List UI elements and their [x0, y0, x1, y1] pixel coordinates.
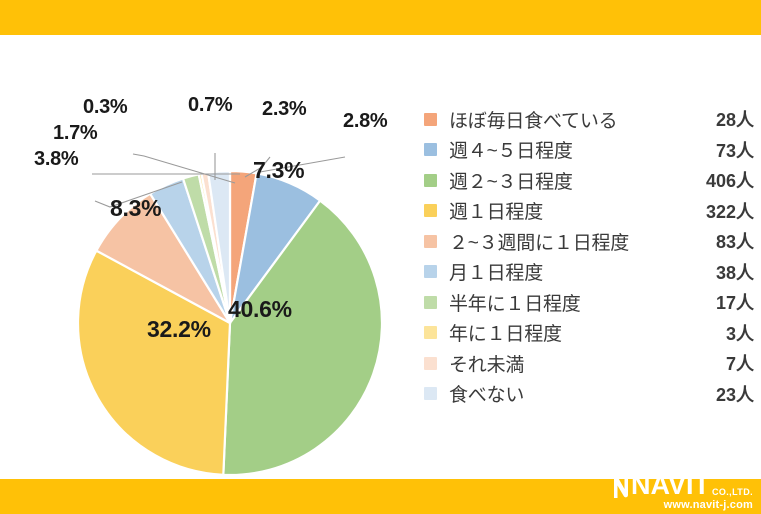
legend-label: 年に１日程度	[449, 319, 726, 346]
pie-label-40.6: 40.6%	[228, 296, 292, 323]
legend-swatch-icon	[424, 296, 437, 309]
chart-legend: ほぼ毎日食べている 28人 週４~５日程度 73人 週２~３日程度 406人 週…	[424, 104, 754, 409]
legend-swatch-icon	[424, 235, 437, 248]
legend-label: 食べない	[449, 380, 716, 407]
chart-canvas: 1.7% 0.3% 3.8% 0.7% 2.3% 2.8% 7.3% 40.6%…	[0, 35, 761, 479]
pie-label-2.3: 2.3%	[262, 98, 306, 121]
pie-chart: 1.7% 0.3% 3.8% 0.7% 2.3% 2.8% 7.3% 40.6%…	[0, 35, 430, 479]
legend-item[interactable]: 週１日程度 322人	[424, 196, 754, 227]
legend-swatch-icon	[424, 204, 437, 217]
pie-label-2.8: 2.8%	[343, 110, 387, 133]
legend-value: 406人	[706, 167, 754, 193]
navit-logo[interactable]: NAVIT CO.,LTD. www.navit-j.com	[612, 479, 753, 511]
pie-label-7.3: 7.3%	[253, 157, 304, 184]
pie-label-0.7: 0.7%	[188, 94, 232, 117]
legend-value: 28人	[716, 106, 754, 132]
legend-item[interactable]: ほぼ毎日食べている 28人	[424, 104, 754, 135]
legend-item[interactable]: ２~３週間に１日程度 83人	[424, 226, 754, 257]
legend-value: 73人	[716, 137, 754, 163]
legend-item[interactable]: 月１日程度 38人	[424, 257, 754, 288]
pie-label-1.7: 1.7%	[53, 122, 97, 145]
legend-swatch-icon	[424, 326, 437, 339]
legend-label: 月１日程度	[449, 258, 716, 285]
legend-item[interactable]: 半年に１日程度 17人	[424, 287, 754, 318]
navit-company-suffix: CO.,LTD.	[712, 488, 753, 497]
legend-value: 23人	[716, 381, 754, 407]
bottom-accent-bar: NAVIT CO.,LTD. www.navit-j.com	[0, 479, 761, 514]
legend-item[interactable]: 年に１日程度 3人	[424, 318, 754, 349]
legend-value: 3人	[726, 320, 754, 346]
legend-value: 17人	[716, 289, 754, 315]
top-accent-bar	[0, 0, 761, 35]
pie-label-32.2: 32.2%	[147, 316, 211, 343]
legend-swatch-icon	[424, 113, 437, 126]
pie-label-0.3: 0.3%	[83, 96, 127, 119]
navit-n-icon	[612, 475, 630, 499]
legend-item[interactable]: それ未満 7人	[424, 348, 754, 379]
legend-value: 38人	[716, 259, 754, 285]
legend-label: 半年に１日程度	[449, 289, 716, 316]
legend-value: 83人	[716, 228, 754, 254]
legend-label: 週１日程度	[449, 197, 706, 224]
legend-item[interactable]: 食べない 23人	[424, 379, 754, 410]
legend-label: ほぼ毎日食べている	[449, 106, 716, 133]
legend-label: 週４~５日程度	[449, 136, 716, 163]
legend-swatch-icon	[424, 357, 437, 370]
legend-value: 322人	[706, 198, 754, 224]
navit-wordmark: NAVIT	[631, 472, 710, 499]
legend-value: 7人	[726, 350, 754, 376]
legend-swatch-icon	[424, 387, 437, 400]
pie-label-3.8: 3.8%	[34, 148, 78, 171]
legend-swatch-icon	[424, 143, 437, 156]
navit-url: www.navit-j.com	[664, 499, 753, 511]
pie-label-8.3: 8.3%	[110, 195, 161, 222]
legend-label: ２~３週間に１日程度	[449, 228, 716, 255]
legend-label: それ未満	[449, 350, 726, 377]
legend-swatch-icon	[424, 174, 437, 187]
legend-label: 週２~３日程度	[449, 167, 706, 194]
legend-swatch-icon	[424, 265, 437, 278]
legend-item[interactable]: 週４~５日程度 73人	[424, 135, 754, 166]
legend-item[interactable]: 週２~３日程度 406人	[424, 165, 754, 196]
